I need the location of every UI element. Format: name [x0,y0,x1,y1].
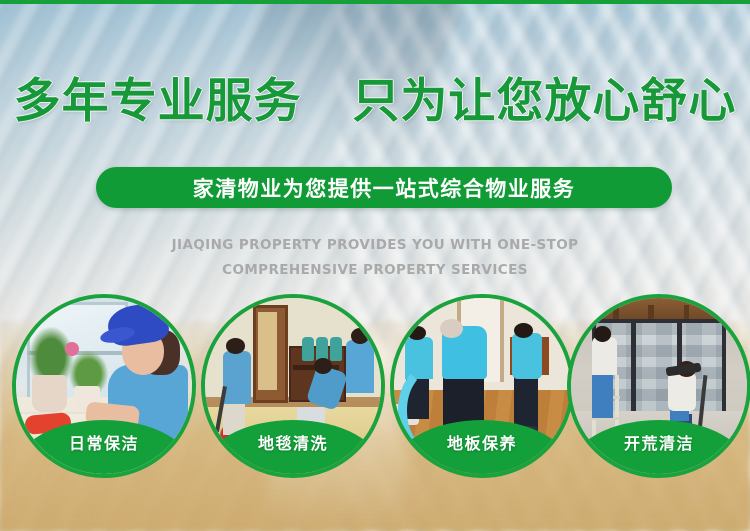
english-subcaption: JIAQING PROPERTY PROVIDES YOU WITH ONE-S… [0,233,750,283]
service-label: 日常保洁 [69,430,139,454]
service-circle-post-construction-cleaning[interactable]: 开荒清洁 [567,294,750,478]
promo-banner-page: 多年专业服务 只为让您放心舒心 家清物业为您提供一站式综合物业服务 JIAQIN… [0,0,750,531]
page-title: 多年专业服务 只为让您放心舒心 [0,78,750,125]
tagline-banner: 家清物业为您提供一站式综合物业服务 [96,167,672,208]
headline-part-1: 多年专业服务 [14,74,302,129]
service-label: 地板保养 [447,430,517,454]
service-label: 地毯清洗 [258,430,328,454]
english-subcaption-line-1: JIAQING PROPERTY PROVIDES YOU WITH ONE-S… [0,233,750,258]
top-green-rule [0,0,750,4]
english-subcaption-line-2: COMPREHENSIVE PROPERTY SERVICES [0,258,750,283]
service-circles-row: 日常保洁 地毯清洗 [0,294,750,486]
service-label: 开荒清洁 [624,430,694,454]
headline-part-2: 只为让您放心舒心 [352,74,736,129]
service-circle-floor-maintenance[interactable]: 地板保养 [390,294,574,478]
service-circle-daily-cleaning[interactable]: 日常保洁 [12,294,196,478]
tagline-text: 家清物业为您提供一站式综合物业服务 [193,173,576,203]
service-circle-carpet-cleaning[interactable]: 地毯清洗 [201,294,385,478]
